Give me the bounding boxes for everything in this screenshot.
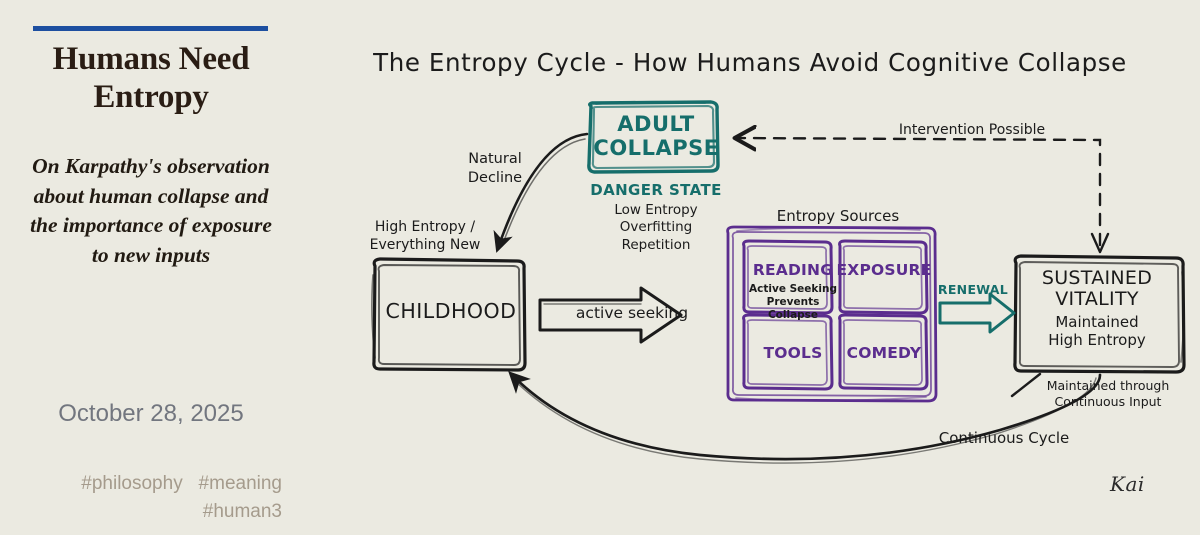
accent-rule [33, 26, 268, 31]
entropy-cycle-diagram: The Entropy Cycle - How Humans Avoid Cog… [300, 0, 1200, 535]
slide-canvas: Humans Need Entropy On Karpathy's observ… [0, 0, 1200, 535]
edge-label-natural-decline: Natural Decline [440, 150, 550, 188]
adult-collapse-details: Low Entropy Overfitting Repetition [568, 202, 744, 254]
publish-date: October 28, 2025 [20, 400, 282, 428]
edge-label-continuous-cycle: Continuous Cycle [924, 430, 1084, 447]
edge-label-active-seeking: active seeking [572, 305, 692, 323]
edge-renewal [940, 294, 1014, 332]
edge-label-intervention-possible: Intervention Possible [852, 122, 1092, 138]
childhood-side-note: High Entropy / Everything New [355, 218, 495, 254]
diagram-title: The Entropy Cycle - How Humans Avoid Cog… [300, 48, 1200, 77]
edge-label-renewal: RENEWAL [934, 283, 1012, 298]
sustained-vitality-label: SUSTAINED VITALITY [1022, 268, 1172, 311]
sustained-vitality-sub: Maintained High Entropy [1022, 313, 1172, 349]
adult-collapse-caption: DANGER STATE [568, 182, 744, 199]
entropy-sources-heading: Entropy Sources [738, 208, 938, 225]
author-signature: Kai [1110, 472, 1145, 496]
sustained-vitality-caption: Maintained through Continuous Input [1036, 378, 1180, 409]
entropy-source-label-tools: TOOLS [750, 345, 836, 363]
childhood-label: CHILDHOOD [376, 300, 526, 324]
tag-meaning[interactable]: #meaning [199, 473, 282, 494]
entropy-source-label-exposure: EXPOSURE [836, 262, 932, 280]
tag-human3[interactable]: #human3 [203, 501, 282, 522]
entropy-source-sub-reading: Active Seeking Prevents Collapse [742, 283, 844, 322]
tag-philosophy[interactable]: #philosophy [81, 473, 182, 494]
page-title: Humans Need Entropy [20, 40, 282, 117]
entropy-source-label-comedy: COMEDY [836, 345, 932, 363]
page-subtitle: On Karpathy's observation about human co… [24, 152, 278, 271]
tag-list: #philosophy #meaning #human3 [20, 470, 282, 525]
article-sidebar: Humans Need Entropy On Karpathy's observ… [0, 0, 300, 535]
entropy-source-label-reading: READING [750, 262, 836, 280]
adult-collapse-label: ADULT COLLAPSE [588, 112, 724, 161]
